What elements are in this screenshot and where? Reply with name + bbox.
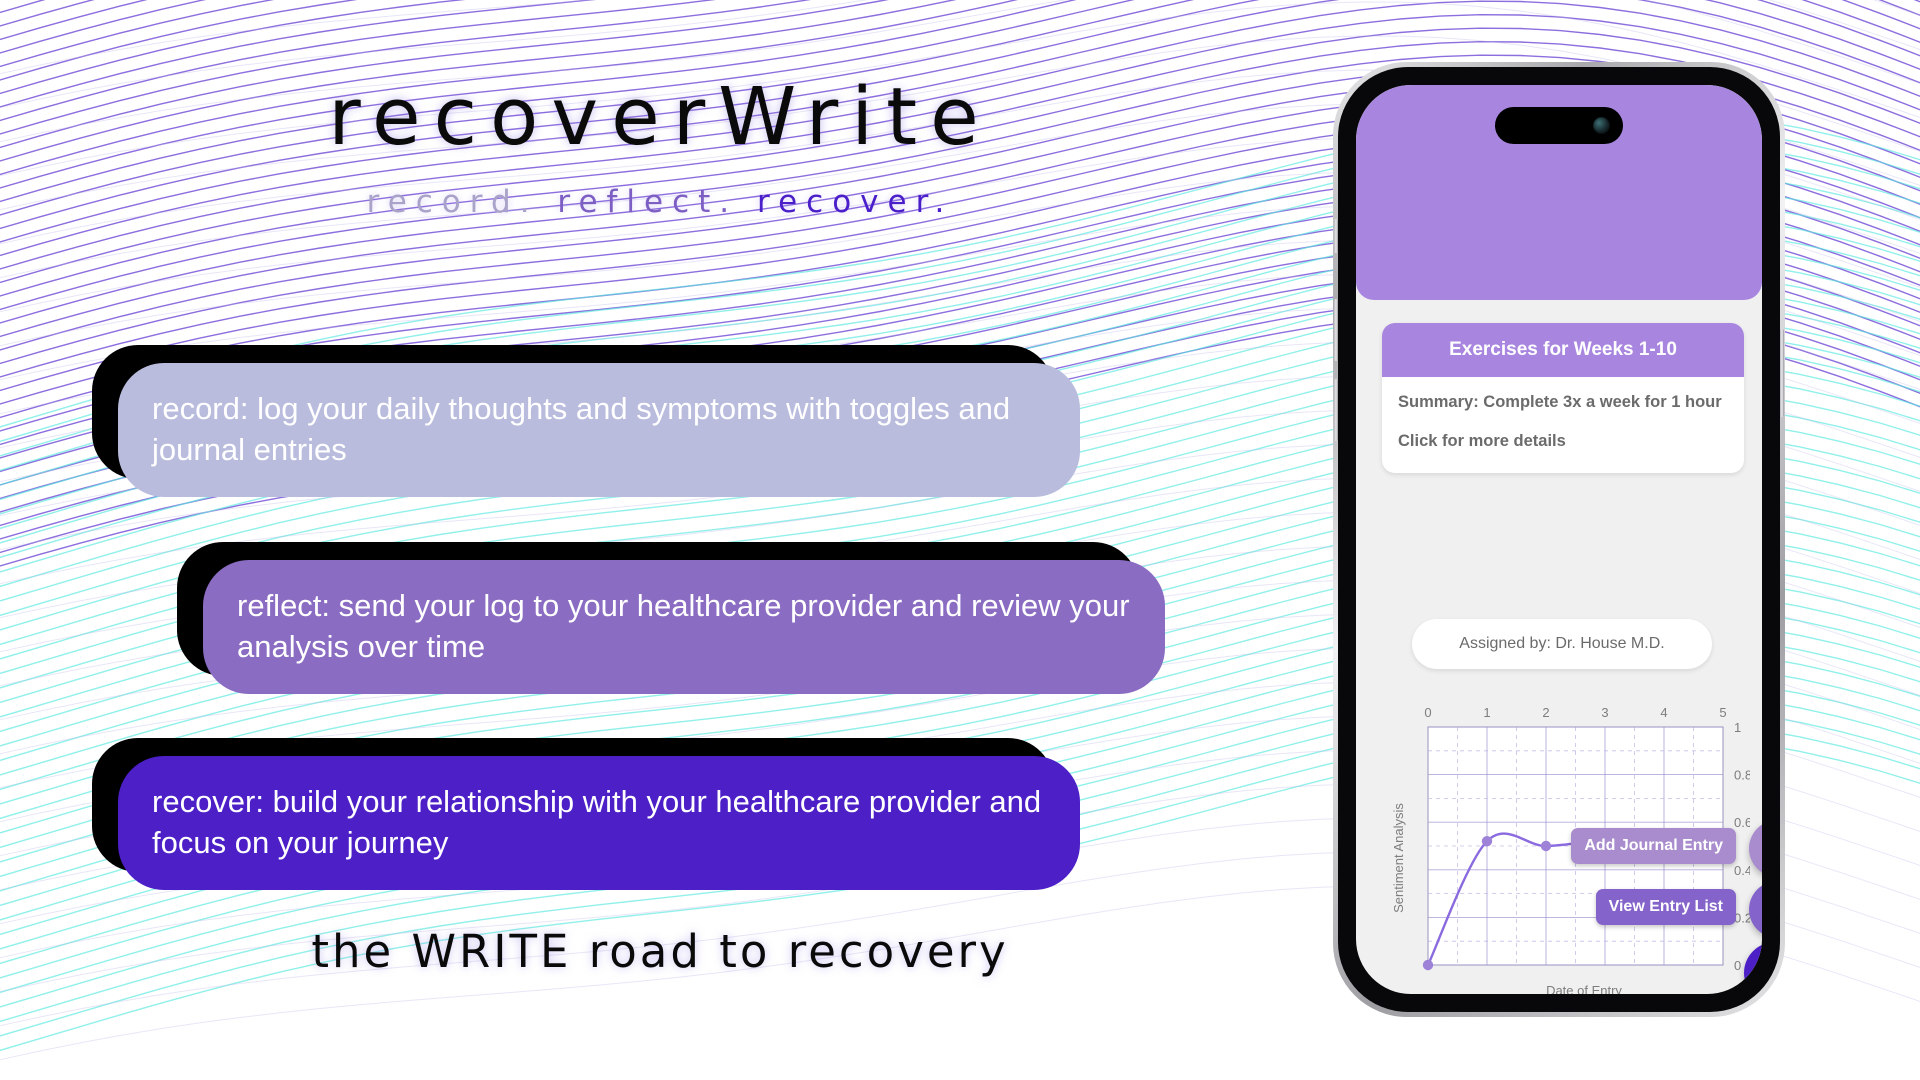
exercise-details-link[interactable]: Click for more details	[1398, 432, 1728, 451]
add-journal-entry-button[interactable]: +	[1749, 820, 1762, 877]
chart-x-axis-label: Date of Entry	[1546, 983, 1622, 994]
chart-y-tick: 0.2	[1734, 910, 1750, 925]
feature-bubble-recover: recover: build your relationship with yo…	[118, 756, 1080, 890]
tagline-recover: recover.	[757, 184, 953, 220]
dynamic-island-notch	[1495, 107, 1623, 144]
chart-y-tick: 0	[1734, 958, 1741, 973]
brand-tagline: record. reflect. recover.	[0, 184, 1320, 220]
exercise-card[interactable]: Exercises for Weeks 1-10 Summary: Comple…	[1382, 323, 1744, 473]
feature-bubble-reflect: reflect: send your log to your healthcar…	[203, 560, 1165, 694]
phone-body: Exercises for Weeks 1-10 Summary: Comple…	[1338, 67, 1780, 1012]
view-entry-list-button[interactable]	[1749, 881, 1762, 938]
chart-data-point[interactable]	[1541, 841, 1551, 851]
exercise-card-body: Summary: Complete 3x a week for 1 hour C…	[1382, 377, 1744, 473]
chart-x-tick: 0	[1424, 705, 1431, 720]
chart-x-tick: 3	[1601, 705, 1608, 720]
volume-down-button[interactable]	[1334, 379, 1338, 441]
exercise-summary: Summary: Complete 3x a week for 1 hour	[1398, 392, 1728, 413]
volume-up-button[interactable]	[1334, 299, 1338, 361]
feature-bubble-record: record: log your daily thoughts and symp…	[118, 363, 1080, 497]
phone-frame: Exercises for Weeks 1-10 Summary: Comple…	[1333, 62, 1785, 1017]
chart-data-point[interactable]	[1482, 836, 1492, 846]
tagline-reflect: reflect.	[557, 184, 738, 220]
assigned-by-pill: Assigned by: Dr. House M.D.	[1412, 619, 1712, 669]
chart-x-tick: 2	[1542, 705, 1549, 720]
chart-x-tick: 4	[1660, 705, 1667, 720]
chart-y-tick: 0.8	[1734, 768, 1750, 783]
tagline-record: record.	[367, 184, 539, 220]
chart-x-tick: 5	[1719, 705, 1726, 720]
power-button[interactable]	[1780, 329, 1784, 417]
footer-slogan: the WRITE road to recovery	[0, 925, 1320, 978]
chart-y-tick: 1	[1734, 720, 1741, 735]
chart-y-tick: 0.6	[1734, 815, 1750, 830]
exercise-card-title: Exercises for Weeks 1-10	[1382, 323, 1744, 377]
chart-y-axis-label: Sentiment Analysis	[1391, 803, 1406, 913]
chart-x-tick: 1	[1483, 705, 1490, 720]
phone-mockup: Exercises for Weeks 1-10 Summary: Comple…	[1333, 62, 1785, 1017]
chart-data-point[interactable]	[1423, 960, 1433, 970]
phone-screen: Exercises for Weeks 1-10 Summary: Comple…	[1356, 85, 1762, 994]
fab-label-add-journal-entry[interactable]: Add Journal Entry	[1571, 828, 1736, 864]
brand-block: recoverWrite record. reflect. recover.	[0, 78, 1320, 220]
fab-label-view-entry-list[interactable]: View Entry List	[1596, 889, 1736, 925]
page-title: recoverWrite	[0, 78, 1320, 157]
silent-switch[interactable]	[1334, 219, 1338, 253]
chart-y-tick: 0.4	[1734, 863, 1750, 878]
front-camera-icon	[1593, 117, 1610, 134]
